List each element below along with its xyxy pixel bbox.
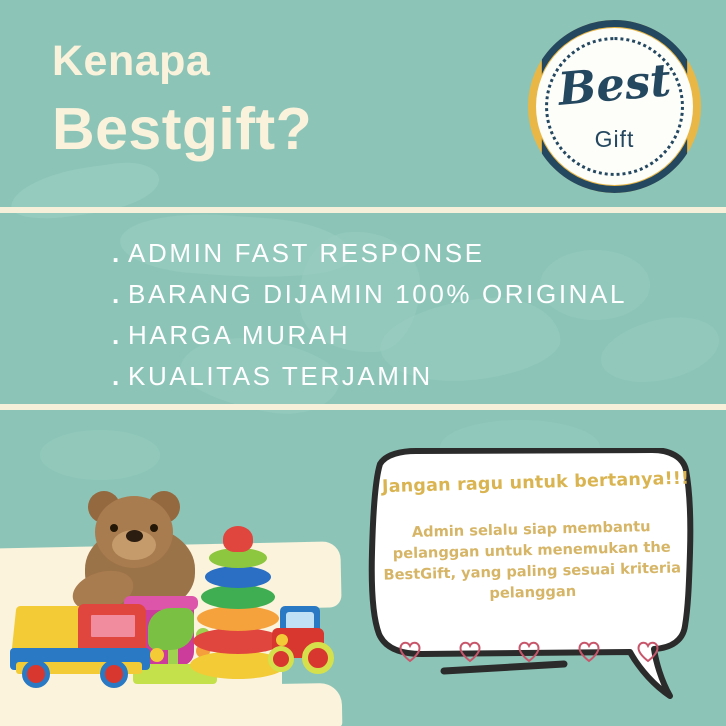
stacker-ring bbox=[201, 585, 275, 609]
feature-item: . ADMIN FAST RESPONSE bbox=[112, 240, 692, 266]
heart-icon bbox=[458, 640, 482, 664]
speech-bubble-text: Jangan ragu untuk bertanya!!! Admin sela… bbox=[382, 474, 682, 604]
badge-sub-word: Gift bbox=[528, 128, 701, 151]
promo-poster: Kenapa Bestgift? Best Gift . ADMIN FAST … bbox=[0, 0, 726, 726]
tractor-wheel bbox=[268, 646, 294, 672]
teddy-bear-nose bbox=[126, 530, 143, 542]
dump-truck-wheel bbox=[22, 660, 50, 688]
teddy-bear-eye bbox=[110, 524, 118, 532]
divider-top bbox=[0, 207, 726, 213]
dump-truck-window bbox=[88, 612, 138, 640]
heart-icon bbox=[398, 640, 422, 664]
toy-bead bbox=[150, 648, 164, 662]
eyebrow-text: Kenapa bbox=[52, 40, 210, 83]
heart-icon bbox=[636, 640, 660, 664]
speech-bubble: Jangan ragu untuk bertanya!!! Admin sela… bbox=[352, 448, 726, 708]
teddy-bear-eye bbox=[150, 524, 158, 532]
tractor-light bbox=[276, 634, 288, 646]
background-watermark-shape bbox=[8, 158, 163, 224]
dump-truck-bed bbox=[12, 606, 89, 652]
feature-label: KUALITAS TERJAMIN bbox=[128, 363, 433, 389]
dump-truck-wheel bbox=[100, 660, 128, 688]
feature-list: . ADMIN FAST RESPONSE . BARANG DIJAMIN 1… bbox=[112, 240, 692, 404]
green-toy-leaf bbox=[148, 608, 194, 650]
bullet-dot-icon: . bbox=[112, 240, 128, 266]
background-watermark-shape bbox=[40, 430, 160, 480]
ring-stacker-toy bbox=[198, 526, 278, 686]
brand-logo-badge: Best Gift bbox=[528, 20, 701, 193]
feature-label: BARANG DIJAMIN 100% ORIGINAL bbox=[128, 281, 627, 307]
feature-item: . BARANG DIJAMIN 100% ORIGINAL bbox=[112, 281, 692, 307]
feature-label: HARGA MURAH bbox=[128, 322, 350, 348]
divider-bottom bbox=[0, 404, 726, 410]
heart-icon bbox=[577, 640, 601, 664]
feature-label: ADMIN FAST RESPONSE bbox=[128, 240, 485, 266]
bullet-dot-icon: . bbox=[112, 322, 128, 348]
feature-item: . KUALITAS TERJAMIN bbox=[112, 363, 692, 389]
bullet-dot-icon: . bbox=[112, 363, 128, 389]
bubble-body-text: Admin selalu siap membantu pelanggan unt… bbox=[381, 516, 683, 608]
stacker-ring bbox=[205, 566, 271, 588]
feature-item: . HARGA MURAH bbox=[112, 322, 692, 348]
toys-photo bbox=[0, 488, 345, 708]
tractor-wheel bbox=[302, 642, 334, 674]
stacker-ring bbox=[193, 628, 283, 654]
heart-row bbox=[398, 640, 660, 664]
bullet-dot-icon: . bbox=[112, 281, 128, 307]
bubble-headline: Jangan ragu untuk bertanya!!! bbox=[382, 470, 682, 498]
stacker-ring bbox=[197, 606, 279, 631]
heart-icon bbox=[517, 640, 541, 664]
stacker-cap bbox=[223, 526, 253, 552]
page-title: Bestgift? bbox=[52, 100, 312, 159]
